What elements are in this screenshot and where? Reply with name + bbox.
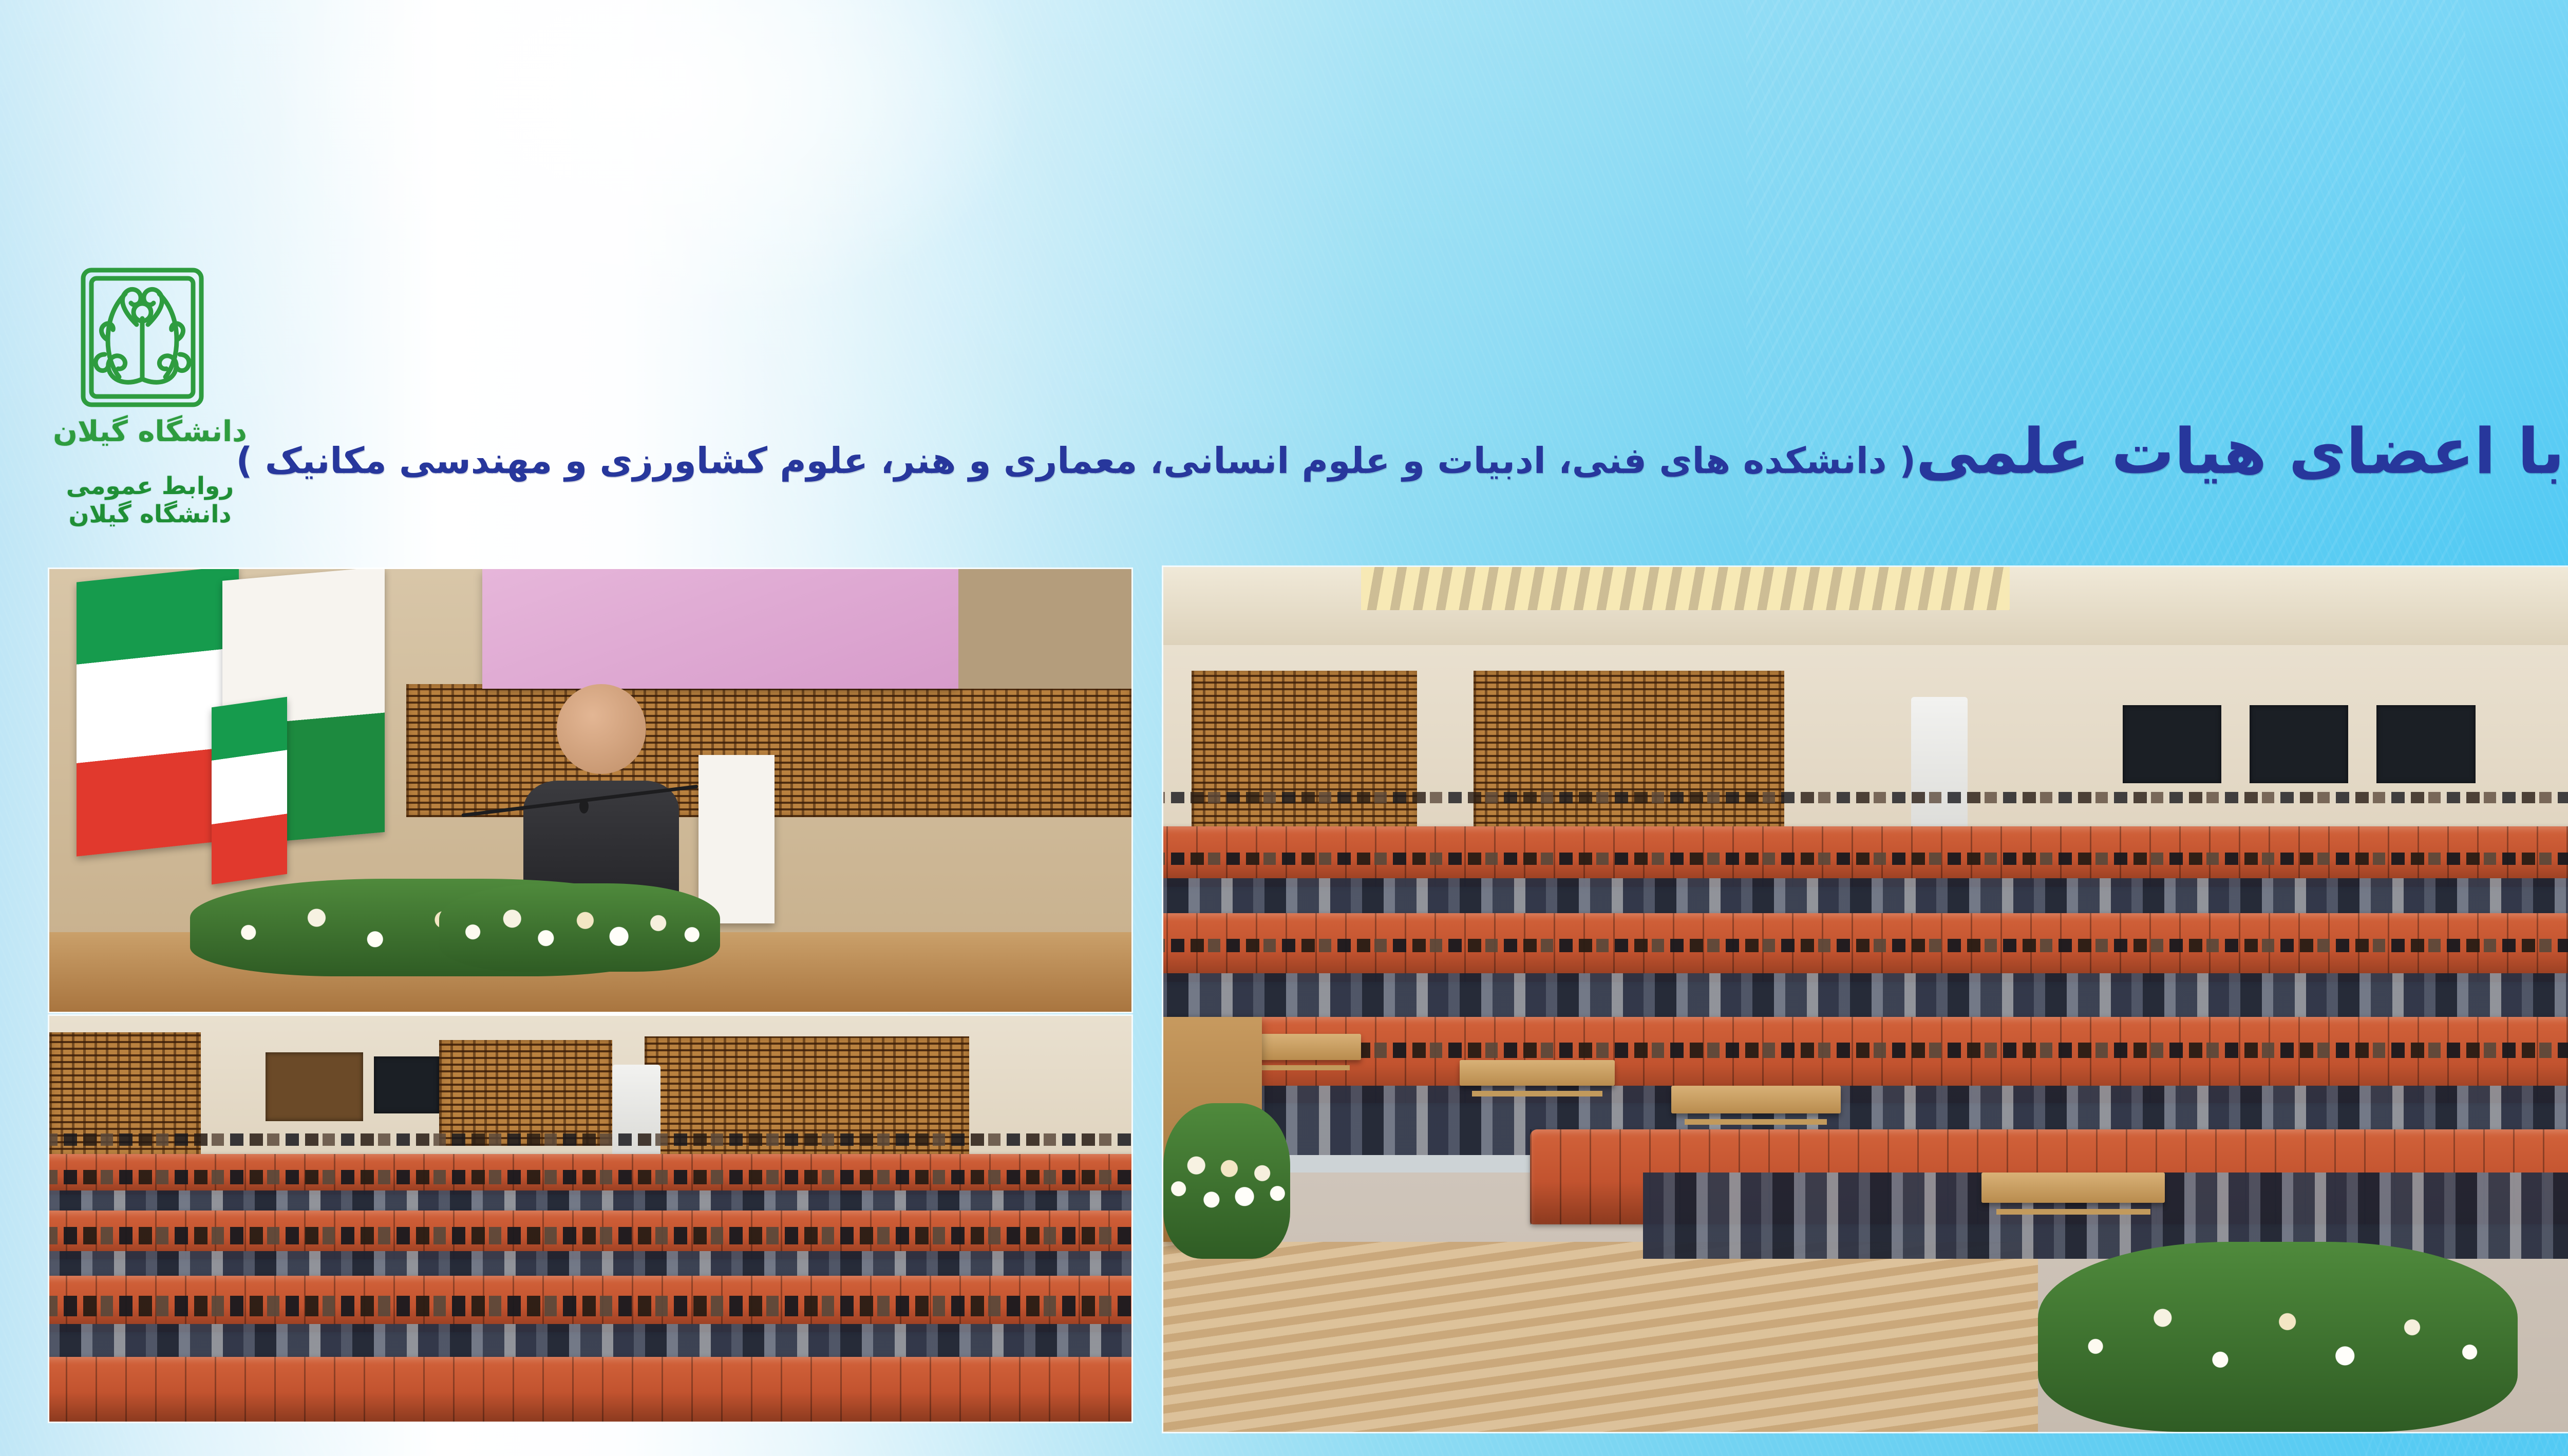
university-logo-block: دانشگاه گیلان روابط عمومی دانشگاه گیلان (47, 263, 253, 528)
photo-top-left-scene (49, 569, 1131, 1012)
photo-center (1163, 567, 2568, 1432)
university-wordmark: دانشگاه گیلان (47, 415, 253, 448)
headline-subtitle-text: ( دانشکده های فنی، ادبیات و علوم انسانی،… (236, 440, 1916, 482)
photo-center-scene (1163, 567, 2568, 1432)
university-of-gilan-butterfly-emblem-icon (76, 263, 209, 417)
public-relations-line: روابط عمومی دانشگاه گیلان (47, 472, 253, 528)
photo-bottom-left-scene (49, 1016, 1131, 1422)
top-glow (267, 0, 1037, 329)
event-banner: دانشگاه گیلان روابط عمومی دانشگاه گیلان … (0, 0, 2568, 1456)
headline-main-text: نشست هم اندیشی رئیس دانشگاه با اعضای هیا… (1916, 415, 2568, 488)
photo-bottom-left (49, 1016, 1131, 1422)
photo-top-left (49, 569, 1131, 1012)
banner-headline: نشست هم اندیشی رئیس دانشگاه با اعضای هیا… (575, 420, 2568, 483)
